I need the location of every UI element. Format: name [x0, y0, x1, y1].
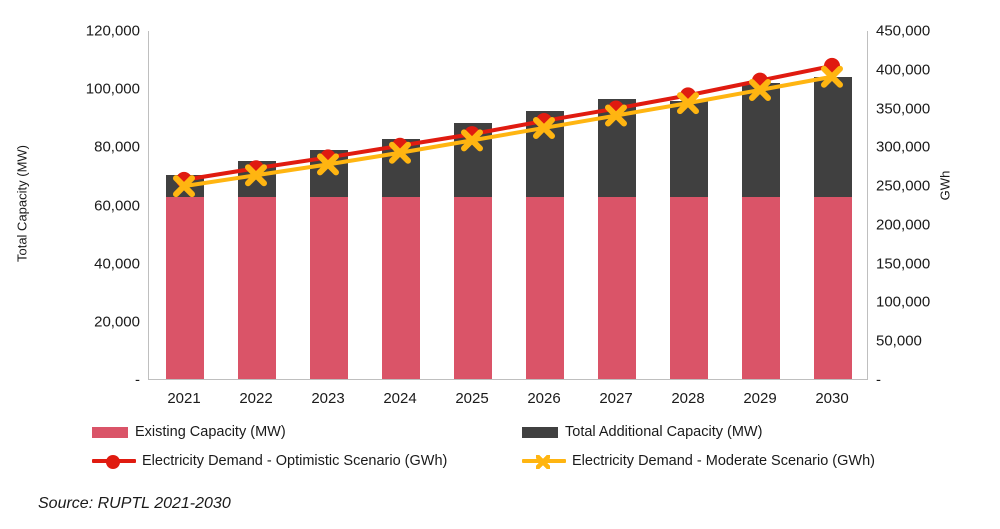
y-axis-right-tick: 100,000 [876, 295, 930, 310]
legend-item[interactable]: Electricity Demand - Optimistic Scenario… [92, 453, 447, 469]
y-axis-left-tick: 80,000 [94, 140, 140, 155]
y-axis-right-tick: 450,000 [876, 24, 930, 39]
legend-item[interactable]: Existing Capacity (MW) [92, 424, 286, 440]
x-axis-tick: 2027 [599, 390, 632, 407]
y-axis-right-tick: 350,000 [876, 101, 930, 116]
bar-segment-additional-capacity [310, 150, 348, 197]
legend-item-label: Electricity Demand - Moderate Scenario (… [572, 453, 875, 469]
y-axis-right-tick: 400,000 [876, 62, 930, 77]
legend-item[interactable]: Electricity Demand - Moderate Scenario (… [522, 453, 875, 469]
x-axis-tick: 2026 [527, 390, 560, 407]
bar-group [742, 30, 780, 379]
bar-segment-existing-capacity [166, 197, 204, 379]
bar-segment-additional-capacity [166, 175, 204, 196]
legend-swatch [522, 427, 558, 438]
bar-segment-existing-capacity [670, 197, 708, 379]
y-axis-right-tick: 150,000 [876, 256, 930, 271]
x-axis-tick: 2023 [311, 390, 344, 407]
legend-swatch [92, 427, 128, 438]
bar-segment-existing-capacity [814, 197, 852, 379]
bar-group [598, 30, 636, 379]
legend-marker-circle-icon [106, 455, 120, 469]
bar-segment-existing-capacity [454, 197, 492, 379]
legend-item-label: Existing Capacity (MW) [135, 424, 286, 440]
x-axis-tick: 2024 [383, 390, 416, 407]
bar-group [670, 30, 708, 379]
plot-right-border [867, 31, 868, 380]
y-axis-right-title: GWh [938, 156, 953, 216]
y-axis-right-tick: 50,000 [876, 334, 922, 349]
bar-segment-additional-capacity [382, 139, 420, 197]
legend-line-marker [522, 454, 566, 468]
bar-segment-additional-capacity [742, 83, 780, 196]
legend-item[interactable]: Total Additional Capacity (MW) [522, 424, 762, 440]
y-axis-right-tick: 250,000 [876, 179, 930, 194]
bar-group [238, 30, 276, 379]
bar-group [166, 30, 204, 379]
y-axis-right-tick: - [876, 373, 881, 388]
bar-segment-additional-capacity [238, 161, 276, 197]
bar-group [814, 30, 852, 379]
x-axis-tick: 2028 [671, 390, 704, 407]
bar-segment-existing-capacity [238, 197, 276, 379]
x-axis-tick: 2030 [815, 390, 848, 407]
y-axis-left-tick: 40,000 [94, 256, 140, 271]
bar-group [526, 30, 564, 379]
bar-group [454, 30, 492, 379]
y-axis-left-tick: 120,000 [86, 24, 140, 39]
x-axis-tick: 2025 [455, 390, 488, 407]
y-axis-right-tick: 300,000 [876, 140, 930, 155]
bar-segment-existing-capacity [598, 197, 636, 379]
y-axis-left-tick: 20,000 [94, 314, 140, 329]
y-axis-left-title: Total Capacity (MW) [15, 124, 30, 284]
y-axis-left-tick: - [135, 373, 140, 388]
bar-group [382, 30, 420, 379]
bar-segment-additional-capacity [670, 101, 708, 197]
x-axis-tick: 2021 [167, 390, 200, 407]
y-axis-left-tick: 60,000 [94, 198, 140, 213]
legend-marker-x-icon [536, 455, 550, 469]
y-axis-left-tick: 100,000 [86, 82, 140, 97]
legend-item-label: Electricity Demand - Optimistic Scenario… [142, 453, 447, 469]
x-axis-tick: 2022 [239, 390, 272, 407]
bar-segment-existing-capacity [310, 197, 348, 379]
bar-segment-existing-capacity [382, 197, 420, 379]
legend-line-marker [92, 454, 136, 468]
bar-segment-existing-capacity [742, 197, 780, 379]
x-axis-tick: 2029 [743, 390, 776, 407]
chart-container: Total Capacity (MW) -20,00040,00060,0008… [0, 0, 1000, 529]
plot-area [148, 31, 868, 380]
legend-item-label: Total Additional Capacity (MW) [565, 424, 762, 440]
bar-group [310, 30, 348, 379]
y-axis-right-tick: 200,000 [876, 217, 930, 232]
source-note: Source: RUPTL 2021-2030 [38, 495, 231, 513]
bar-segment-existing-capacity [526, 197, 564, 379]
bar-segment-additional-capacity [814, 77, 852, 196]
chart-legend: Existing Capacity (MW)Total Additional C… [92, 424, 912, 480]
bar-segment-additional-capacity [454, 123, 492, 197]
bar-segment-additional-capacity [598, 99, 636, 196]
bar-segment-additional-capacity [526, 111, 564, 197]
